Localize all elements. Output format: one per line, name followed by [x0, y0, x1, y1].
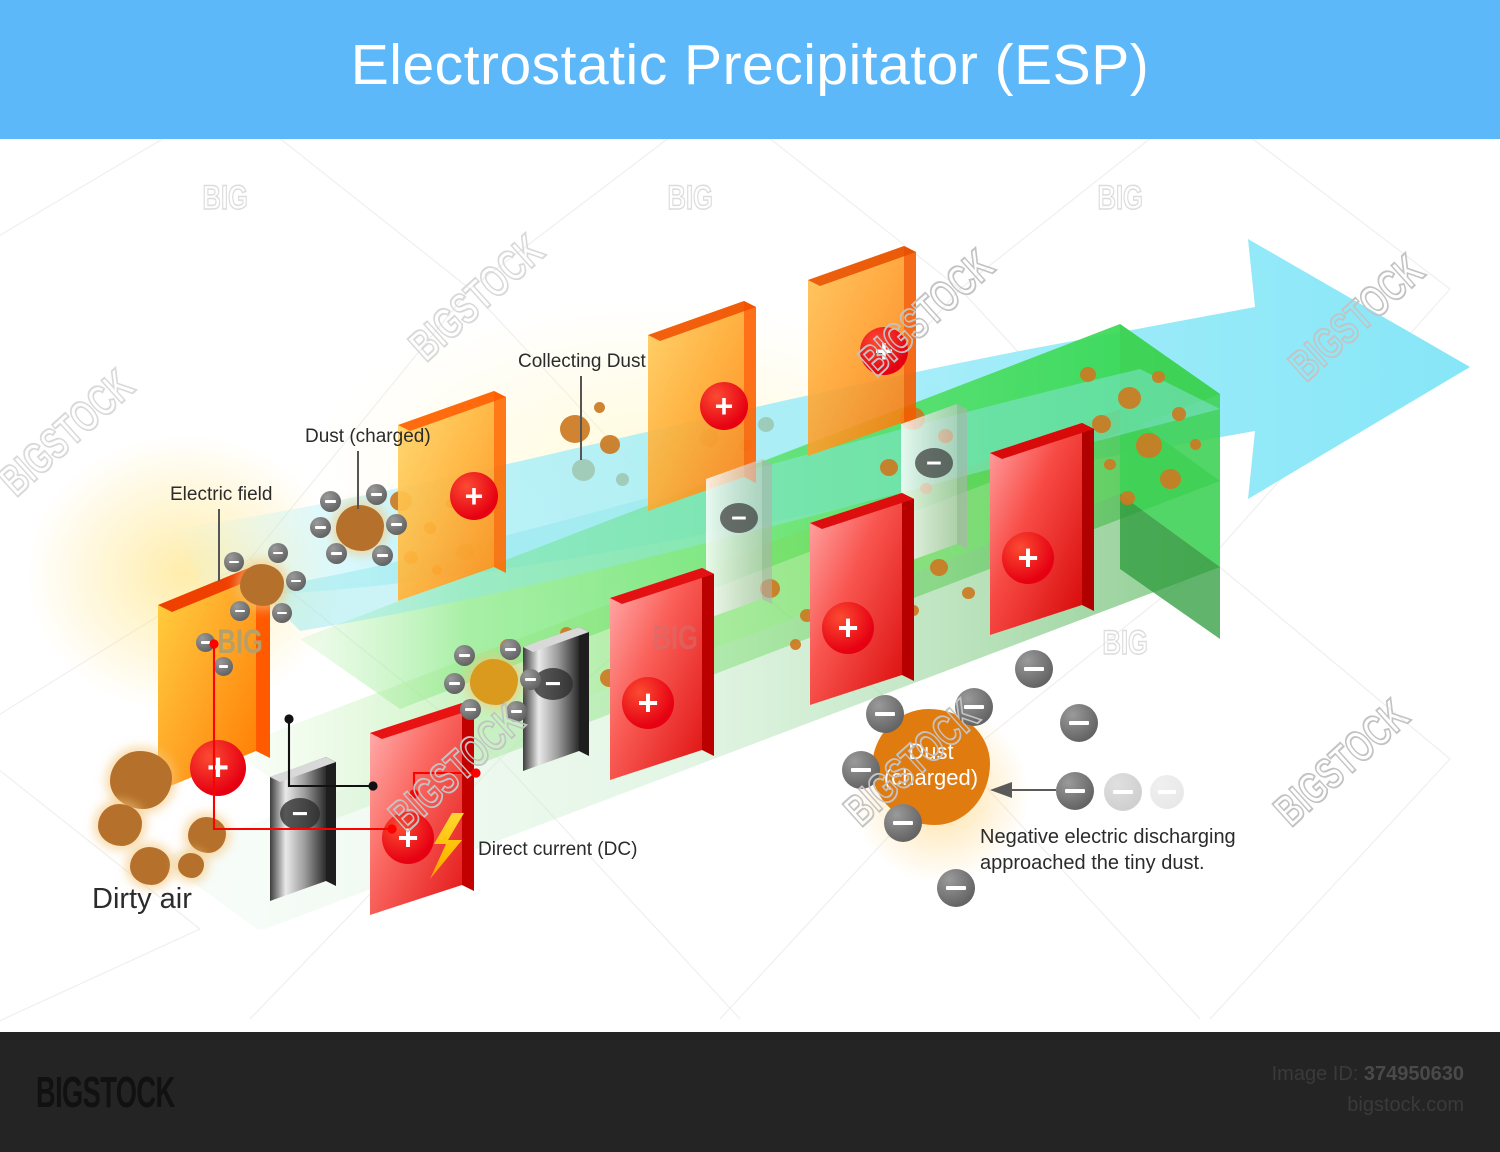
ion-icon [1060, 704, 1098, 742]
lightning-bolt-icon [428, 811, 476, 883]
ion-icon [884, 804, 922, 842]
ion-icon [955, 688, 993, 726]
infographic-canvas: Electrostatic Precipitator (ESP) [0, 0, 1500, 1152]
ion-icon [1015, 650, 1053, 688]
bigstock-logo: BIGSTOCK [36, 1068, 175, 1118]
ion-icon [866, 695, 904, 733]
direct-current-label: Direct current (DC) [478, 839, 637, 861]
page-title: Electrostatic Precipitator (ESP) [0, 34, 1500, 97]
image-id-prefix: Image ID: [1272, 1063, 1359, 1085]
footer-bar [0, 1032, 1500, 1152]
approach-arrow-icon [988, 776, 1058, 804]
ion-icon-fading [1104, 773, 1142, 811]
bigstock-domain: bigstock.com [1347, 1094, 1464, 1117]
image-id: Image ID: 374950630 [1272, 1063, 1464, 1086]
ion-icon [937, 869, 975, 907]
esp-diagram-scene: Clean air [0, 139, 1500, 1032]
ion-icon-incoming [1056, 772, 1094, 810]
detail-caption: Negative electric discharging approached… [980, 825, 1236, 876]
ion-icon-fading [1150, 775, 1184, 809]
dc-wiring [0, 139, 1500, 1032]
image-id-value: 374950630 [1364, 1063, 1464, 1085]
ion-icon [842, 751, 880, 789]
